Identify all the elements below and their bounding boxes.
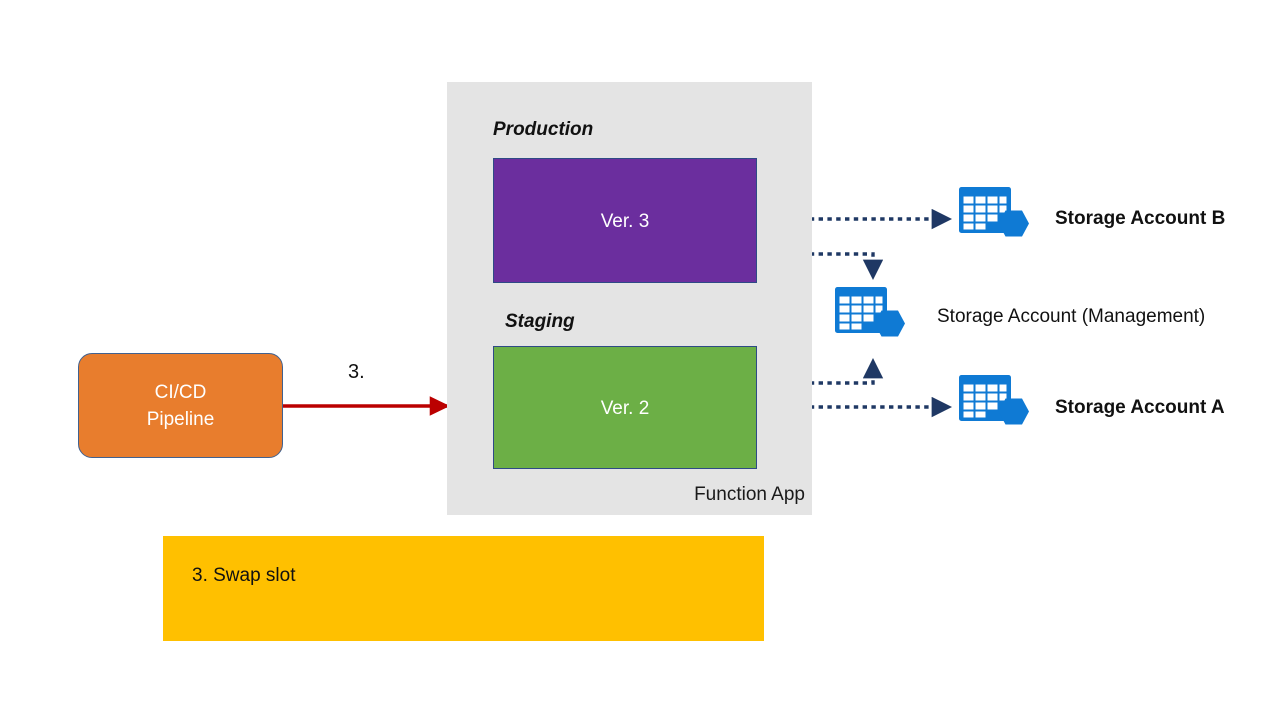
storage-account-icon[interactable] (834, 286, 906, 351)
storage-account-b-label: Storage Account B (1055, 207, 1225, 231)
cicd-pipeline-box[interactable]: CI/CD Pipeline (78, 353, 283, 458)
storage-account-icon[interactable] (958, 186, 1030, 251)
staging-slot-version-label: Ver. 2 (601, 398, 650, 420)
storage-account-icon[interactable] (958, 374, 1030, 439)
swap-slot-callout-box (163, 536, 764, 641)
cicd-pipeline-label-line1: CI/CD (155, 379, 207, 406)
diagram-canvas: Production Ver. 3 Staging Ver. 2 Functio… (0, 0, 1280, 720)
storage-account-management-label: Storage Account (Management) (937, 305, 1205, 329)
swap-slot-callout-text: 3. Swap slot (192, 565, 296, 587)
function-app-label: Function App (660, 482, 805, 508)
slot-heading-staging: Staging (505, 310, 575, 334)
production-slot-version-label: Ver. 3 (601, 211, 650, 233)
staging-slot-version-block[interactable]: Ver. 2 (493, 346, 757, 469)
slot-heading-production: Production (493, 118, 593, 142)
production-slot-version-block[interactable]: Ver. 3 (493, 158, 757, 283)
step-number-label: 3. (348, 361, 365, 384)
storage-account-a-label: Storage Account A (1055, 396, 1225, 420)
cicd-pipeline-label-line2: Pipeline (147, 406, 215, 433)
